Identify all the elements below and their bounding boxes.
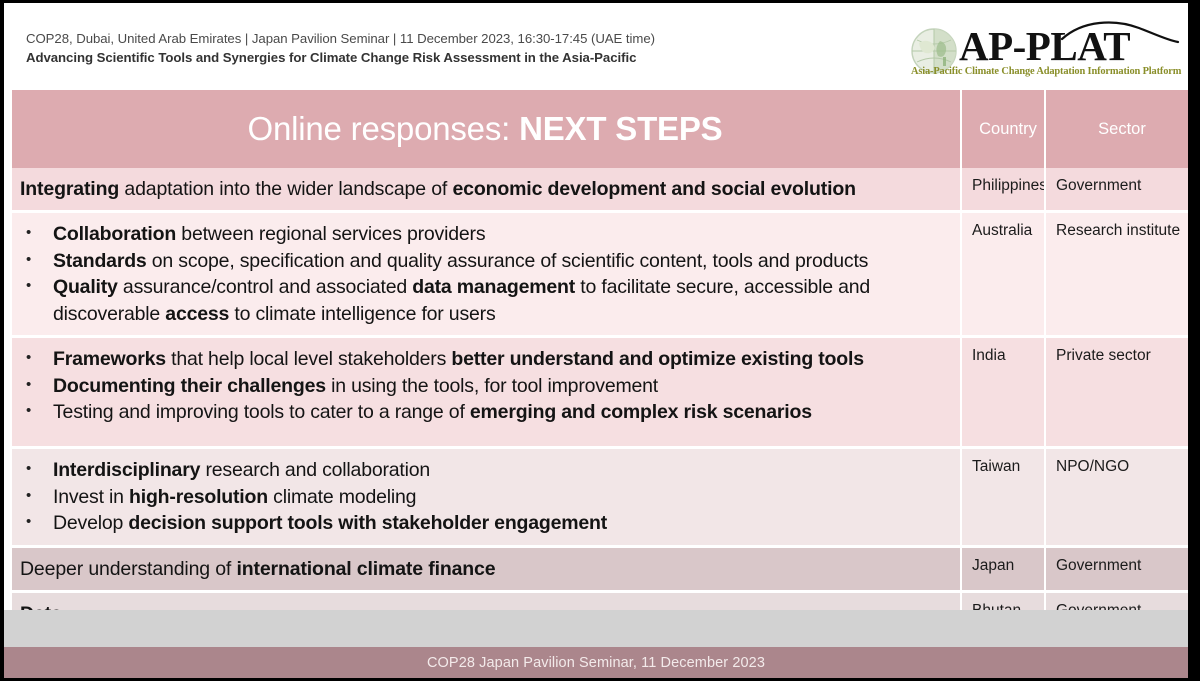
response-cell: Collaboration between regional services …	[12, 213, 960, 335]
country-cell: India	[960, 338, 1044, 446]
list-item: Collaboration between regional services …	[20, 221, 950, 248]
table-title-emphasis: NEXT STEPS	[519, 110, 722, 147]
responses-table: Online responses: NEXT STEPS Country Sec…	[12, 90, 1188, 635]
list-item: Testing and improving tools to cater to …	[20, 399, 950, 426]
sector-cell: Research institute	[1044, 213, 1188, 335]
response-cell: Interdisciplinary research and collabora…	[12, 449, 960, 545]
slide-lower-area	[4, 610, 1188, 650]
response-cell: Integrating adaptation into the wider la…	[12, 168, 960, 210]
emphasis-text: high-resolution	[129, 486, 268, 508]
table-row: Frameworks that help local level stakeho…	[12, 338, 1188, 446]
sector-cell: Government	[1044, 168, 1188, 210]
seminar-title: Advancing Scientific Tools and Synergies…	[26, 49, 856, 67]
list-item: Develop decision support tools with stak…	[20, 510, 950, 537]
body-text: assurance/control and associated	[118, 276, 413, 298]
logo-wordmark: AP-PLAT	[957, 21, 1177, 68]
body-text: Develop	[53, 512, 128, 534]
country-cell: Taiwan	[960, 449, 1044, 545]
response-paragraph: Deeper understanding of international cl…	[20, 556, 950, 582]
emphasis-text: Interdisciplinary	[53, 459, 200, 481]
table-body: Integrating adaptation into the wider la…	[12, 168, 1188, 635]
list-item: Documenting their challenges in using th…	[20, 373, 950, 400]
table-title: Online responses: NEXT STEPS	[248, 109, 723, 149]
list-item: Frameworks that help local level stakeho…	[20, 346, 950, 373]
response-cell: Frameworks that help local level stakeho…	[12, 338, 960, 446]
sector-cell: Private sector	[1044, 338, 1188, 446]
body-text: on scope, specification and quality assu…	[147, 250, 869, 272]
table-title-prefix: Online responses:	[248, 110, 520, 147]
event-info-line: COP28, Dubai, United Arab Emirates | Jap…	[26, 30, 856, 48]
swoosh-icon	[1061, 22, 1179, 44]
emphasis-text: data management	[412, 276, 575, 298]
body-text: Invest in	[53, 486, 129, 508]
table-title-cell: Online responses: NEXT STEPS	[12, 90, 960, 168]
body-text: to climate intelligence for users	[229, 303, 495, 325]
emphasis-text: Quality	[53, 276, 118, 298]
bullet-list: Collaboration between regional services …	[20, 221, 950, 327]
table-row: Deeper understanding of international cl…	[12, 548, 1188, 590]
emphasis-text: economic development and social evolutio…	[452, 178, 855, 200]
body-text: climate modeling	[268, 486, 416, 508]
country-cell: Japan	[960, 548, 1044, 590]
sector-cell: NPO/NGO	[1044, 449, 1188, 545]
emphasis-text: Collaboration	[53, 223, 176, 245]
list-item: Standards on scope, specification and qu…	[20, 248, 950, 275]
slide-canvas: COP28, Dubai, United Arab Emirates | Jap…	[4, 3, 1188, 678]
table-row: Integrating adaptation into the wider la…	[12, 168, 1188, 210]
bullet-list: Frameworks that help local level stakeho…	[20, 346, 950, 426]
country-cell: Philippines	[960, 168, 1044, 210]
logo-tagline: Asia-Pacific Climate Change Adaptation I…	[911, 66, 1177, 77]
ap-plat-logo: AP-PLAT Asia-Pacific Climate Change Adap…	[909, 21, 1177, 83]
body-text: that help local level stakeholders	[166, 348, 451, 370]
body-text: research and collaboration	[200, 459, 430, 481]
emphasis-text: access	[165, 303, 229, 325]
footer-text: COP28 Japan Pavilion Seminar, 11 Decembe…	[427, 655, 765, 671]
slide-header: COP28, Dubai, United Arab Emirates | Jap…	[4, 3, 1188, 89]
table-row: Interdisciplinary research and collabora…	[12, 449, 1188, 545]
emphasis-text: better understand and optimize existing …	[451, 348, 863, 370]
column-header-country: Country	[960, 90, 1044, 168]
emphasis-text: international climate finance	[236, 558, 495, 580]
list-item: Invest in high-resolution climate modeli…	[20, 484, 950, 511]
column-header-sector: Sector	[1044, 90, 1188, 168]
response-paragraph: Integrating adaptation into the wider la…	[20, 176, 950, 202]
emphasis-text: Standards	[53, 250, 147, 272]
body-text: Deeper understanding of	[20, 558, 236, 580]
body-text: between regional services providers	[176, 223, 485, 245]
list-item: Interdisciplinary research and collabora…	[20, 457, 950, 484]
emphasis-text: emerging and complex risk scenarios	[470, 401, 812, 423]
table-row: Collaboration between regional services …	[12, 213, 1188, 335]
emphasis-text: Integrating	[20, 178, 119, 200]
header-text-block: COP28, Dubai, United Arab Emirates | Jap…	[26, 30, 856, 67]
body-text: adaptation into the wider landscape of	[119, 178, 452, 200]
body-text: Testing and improving tools to cater to …	[53, 401, 470, 423]
body-text: in using the tools, for tool improvement	[326, 375, 658, 397]
response-cell: Deeper understanding of international cl…	[12, 548, 960, 590]
emphasis-text: Frameworks	[53, 348, 166, 370]
sector-cell: Government	[1044, 548, 1188, 590]
slide-outer-frame: COP28, Dubai, United Arab Emirates | Jap…	[0, 0, 1200, 681]
table-header-row: Online responses: NEXT STEPS Country Sec…	[12, 90, 1188, 168]
emphasis-text: decision support tools with stakeholder …	[128, 512, 607, 534]
bullet-list: Interdisciplinary research and collabora…	[20, 457, 950, 537]
country-cell: Australia	[960, 213, 1044, 335]
emphasis-text: Documenting their challenges	[53, 375, 326, 397]
list-item: Quality assurance/control and associated…	[20, 274, 950, 327]
slide-footer: COP28 Japan Pavilion Seminar, 11 Decembe…	[4, 647, 1188, 678]
